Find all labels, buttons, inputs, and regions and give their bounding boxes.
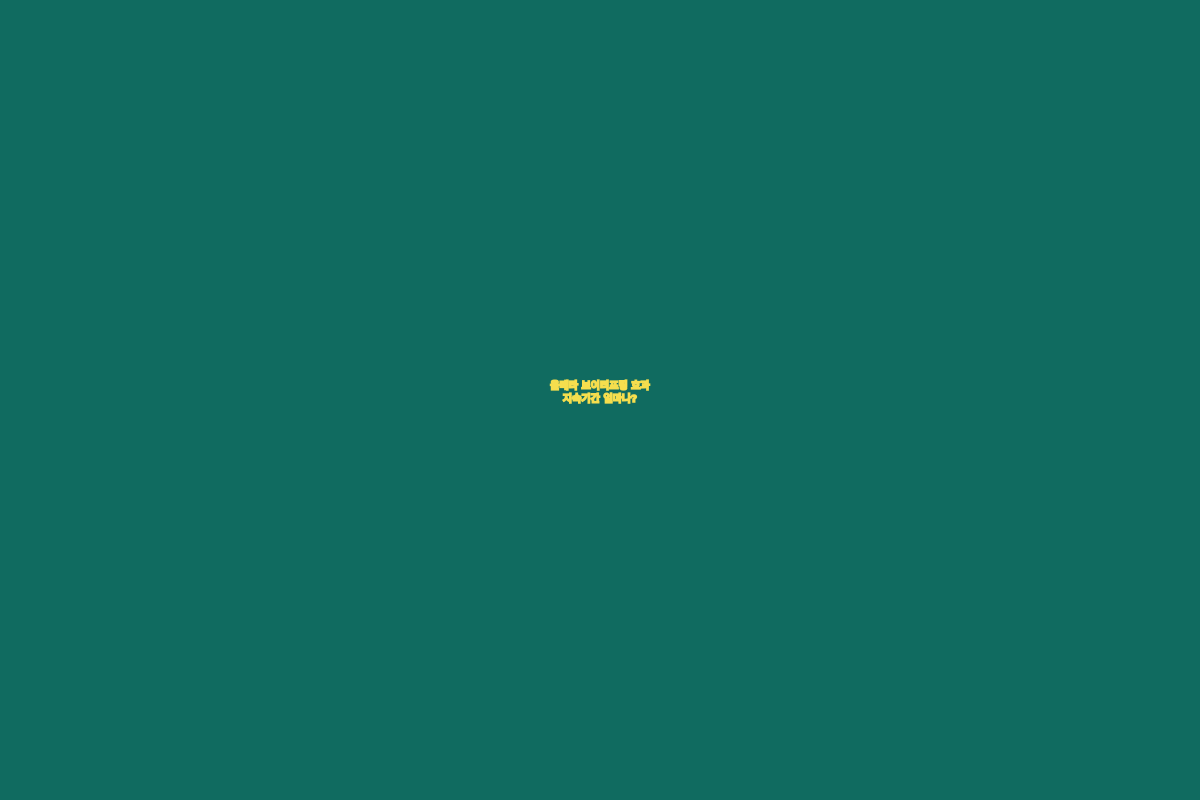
headline-block: 올메라 브이리프팅 효과 지속기간 얼마나? xyxy=(0,380,1200,407)
text-banner: 올메라 브이리프팅 효과 지속기간 얼마나? xyxy=(0,0,1200,800)
headline-line-2: 지속기간 얼마나? xyxy=(0,393,1200,406)
headline-line-1: 올메라 브이리프팅 효과 xyxy=(0,380,1200,393)
